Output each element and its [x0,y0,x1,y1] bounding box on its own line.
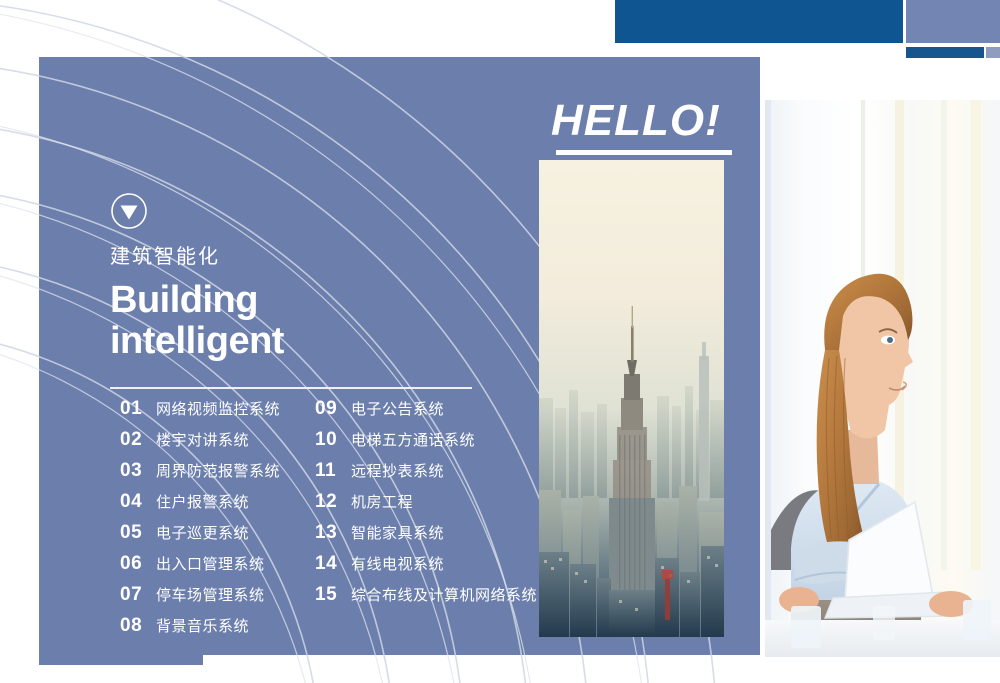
deco-bar-small-light [986,47,1000,58]
list-item-label: 电子公告系统 [351,398,444,419]
list-item[interactable]: 10 电梯五方通话系统 [315,429,540,460]
deco-bar-bottom-left [39,655,203,665]
list-item-number: 11 [315,460,351,482]
list-item-number: 14 [315,553,351,575]
list-item-label: 电梯五方通话系统 [351,429,475,450]
list-item-number: 03 [120,460,156,482]
list-item[interactable]: 07 停车场管理系统 [120,584,315,615]
deco-bar-top-light [906,0,1000,43]
list-item-number: 01 [120,398,156,420]
list-item-label: 电子巡更系统 [156,522,249,543]
list-item[interactable]: 12 机房工程 [315,491,540,522]
slide-canvas: 建筑智能化 Building intelligent 01 网络视频监控系统 0… [0,0,1000,683]
chevron-down-circle-icon [110,192,148,230]
list-item-label: 出入口管理系统 [156,553,265,574]
subtitle-chinese: 建筑智能化 [110,244,510,268]
list-item-label: 楼宇对讲系统 [156,429,249,450]
list-item-label: 远程抄表系统 [351,460,444,481]
businesswoman-office-photo [765,100,1000,657]
left-content-column: 建筑智能化 Building intelligent [110,192,510,389]
list-item-label: 住户报警系统 [156,491,249,512]
list-item-number: 13 [315,522,351,544]
list-item[interactable]: 09 电子公告系统 [315,398,540,429]
page-title-line-1: Building [110,280,510,321]
list-item[interactable]: 14 有线电视系统 [315,553,540,584]
title-divider [110,387,472,389]
hello-heading: HELLO! [551,96,721,146]
systems-list-column-right: 09 电子公告系统 10 电梯五方通话系统 11 远程抄表系统 12 机房工程 … [315,398,540,646]
list-item-number: 04 [120,491,156,513]
list-item[interactable]: 02 楼宇对讲系统 [120,429,315,460]
list-item-number: 10 [315,429,351,451]
systems-list: 01 网络视频监控系统 02 楼宇对讲系统 03 周界防范报警系统 04 住户报… [120,398,540,646]
deco-bar-top-dark [615,0,903,43]
list-item-number: 05 [120,522,156,544]
list-item-label: 智能家具系统 [351,522,444,543]
list-item-label: 有线电视系统 [351,553,444,574]
list-item-number: 08 [120,615,156,637]
list-item-label: 背景音乐系统 [156,615,249,636]
list-item-number: 06 [120,553,156,575]
list-item-label: 网络视频监控系统 [156,398,280,419]
city-skyline-photo [539,160,724,637]
list-item[interactable]: 13 智能家具系统 [315,522,540,553]
list-item-number: 02 [120,429,156,451]
deco-bar-small-dark [906,47,984,58]
list-item-label: 机房工程 [351,491,413,512]
list-item-label: 周界防范报警系统 [156,460,280,481]
list-item-number: 09 [315,398,351,420]
page-title-line-2: intelligent [110,321,510,362]
hello-underline [556,150,732,155]
list-item-label: 综合布线及计算机网络系统 [351,584,537,605]
list-item-number: 12 [315,491,351,513]
list-item[interactable]: 08 背景音乐系统 [120,615,315,646]
list-item[interactable]: 04 住户报警系统 [120,491,315,522]
list-item[interactable]: 05 电子巡更系统 [120,522,315,553]
systems-list-column-left: 01 网络视频监控系统 02 楼宇对讲系统 03 周界防范报警系统 04 住户报… [120,398,315,646]
list-item[interactable]: 06 出入口管理系统 [120,553,315,584]
list-item[interactable]: 03 周界防范报警系统 [120,460,315,491]
list-item[interactable]: 01 网络视频监控系统 [120,398,315,429]
list-item-number: 07 [120,584,156,606]
list-item-label: 停车场管理系统 [156,584,265,605]
page-title: Building intelligent [110,280,510,362]
list-item[interactable]: 11 远程抄表系统 [315,460,540,491]
list-item-number: 15 [315,584,351,606]
list-item[interactable]: 15 综合布线及计算机网络系统 [315,584,540,615]
